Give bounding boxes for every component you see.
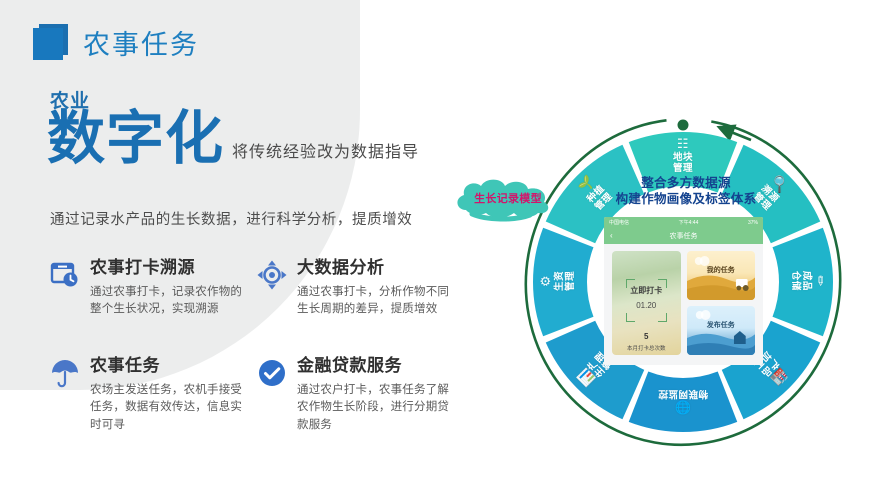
iot-globe-icon: 🌐 — [649, 401, 717, 414]
headline-big-word: 数字化 — [47, 110, 224, 168]
scan-bracket-icon — [626, 279, 635, 288]
feature-desc: 通过农事打卡，分析作物不同生长周期的差异，提质增效 — [297, 284, 452, 320]
center-line-1: 整合多方数据源 — [596, 175, 776, 191]
crosshair-target-icon — [257, 260, 287, 290]
phone-status-bar: 中国电信 下午4:44 37% — [604, 217, 763, 228]
phone-content: 立即打卡 01.20 5 本月打卡总次数 我的任务 — [604, 244, 763, 362]
chevron-left-icon[interactable]: ‹ — [610, 231, 613, 240]
task-cards: 我的任务 发布任务 — [687, 251, 756, 355]
feature-grid: 农事打卡溯源 通过农事打卡，记录农作物的整个生长状况，实现溯源 大数据分析 通过… — [50, 258, 450, 448]
scan-bracket-icon — [658, 313, 667, 322]
feature-title: 农事任务 — [90, 356, 245, 376]
checkin-date: 01.20 — [636, 301, 656, 310]
feature-title: 农事打卡溯源 — [90, 258, 245, 278]
calendar-clock-icon — [50, 260, 80, 290]
wheel-segment-label: ⚙生资 管理 — [539, 247, 577, 315]
check-circle-icon — [257, 358, 287, 388]
wheel-center-text: 整合多方数据源 构建作物画像及标签体系 — [596, 175, 776, 208]
publish-task-label: 发布任务 — [687, 320, 756, 330]
phone-nav-title: 农事任务 — [670, 231, 698, 241]
feature-desc: 通过农事打卡，记录农作物的整个生长状况，实现溯源 — [90, 284, 245, 320]
my-task-label: 我的任务 — [687, 265, 756, 275]
phone-nav-bar: ‹ 农事任务 — [604, 228, 763, 244]
blue-square-icon — [33, 22, 69, 62]
headline-lede: 通过记录水产品的生长数据，进行科学分析，提质增效 — [50, 208, 412, 229]
supplies-icon: ⚙ — [539, 247, 552, 315]
feature-item: 大数据分析 通过农事打卡，分析作物不同生长周期的差异，提质增效 — [257, 258, 452, 350]
field-plot-icon: ☷ — [649, 137, 717, 150]
feature-title: 大数据分析 — [297, 258, 452, 278]
feature-desc: 农场主发送任务，农机手接受任务，数据有效传达，信息实时可寻 — [90, 382, 245, 435]
headline-tagline: 将传统经验改为数据指导 — [232, 138, 419, 162]
checkin-count-label: 本月打卡总次数 — [612, 344, 681, 352]
phone-time: 下午4:44 — [679, 219, 699, 226]
publish-task-card[interactable]: 发布任务 — [687, 306, 756, 355]
wheel-segment-label: 🌐物联网监控 — [649, 387, 717, 414]
phone-carrier: 中国电信 — [609, 219, 629, 226]
feature-title: 金融贷款服务 — [297, 356, 452, 376]
feature-desc: 通过农户打卡，农事任务了解农作物生长阶段，进行分期贷款服务 — [297, 382, 452, 435]
checkin-card[interactable]: 立即打卡 01.20 5 本月打卡总次数 — [612, 251, 681, 355]
scan-bracket-icon — [626, 313, 635, 322]
wheel-segment-label: ✏成品 仓储 — [789, 247, 827, 315]
feature-item: 农事打卡溯源 通过农事打卡，记录农作物的整个生长状况，实现溯源 — [50, 258, 245, 350]
page-header: 农事任务 — [33, 22, 199, 62]
my-task-card[interactable]: 我的任务 — [687, 251, 756, 300]
checkin-count: 5 — [612, 332, 681, 341]
center-line-2: 构建作物画像及标签体系 — [596, 191, 776, 207]
scan-bracket-icon — [658, 279, 667, 288]
headline-main: 数字化 将传统经验改为数据指导 — [47, 110, 419, 168]
feature-item: 金融贷款服务 通过农户打卡，农事任务了解农作物生长阶段，进行分期贷款服务 — [257, 356, 452, 448]
growth-record-badge: 生长记录模型 — [452, 176, 564, 222]
page-title: 农事任务 — [83, 23, 199, 62]
process-wheel: ☷地块 管理🔍溯源 管理✏成品 仓储🏭产品 加工🌐物联网监控📊生产 管理⚙生资 … — [508, 112, 858, 452]
warehouse-box-icon: ✏ — [814, 247, 827, 315]
wheel-segment-label: ☷地块 管理 — [649, 137, 717, 175]
umbrella-icon — [50, 358, 80, 388]
feature-item: 农事任务 农场主发送任务，农机手接受任务，数据有效传达，信息实时可寻 — [50, 356, 245, 448]
badge-label: 生长记录模型 — [452, 190, 564, 206]
phone-mockup: 中国电信 下午4:44 37% ‹ 农事任务 立即打卡 01.20 5 本月打卡… — [604, 217, 763, 365]
phone-battery: 37% — [748, 220, 758, 226]
